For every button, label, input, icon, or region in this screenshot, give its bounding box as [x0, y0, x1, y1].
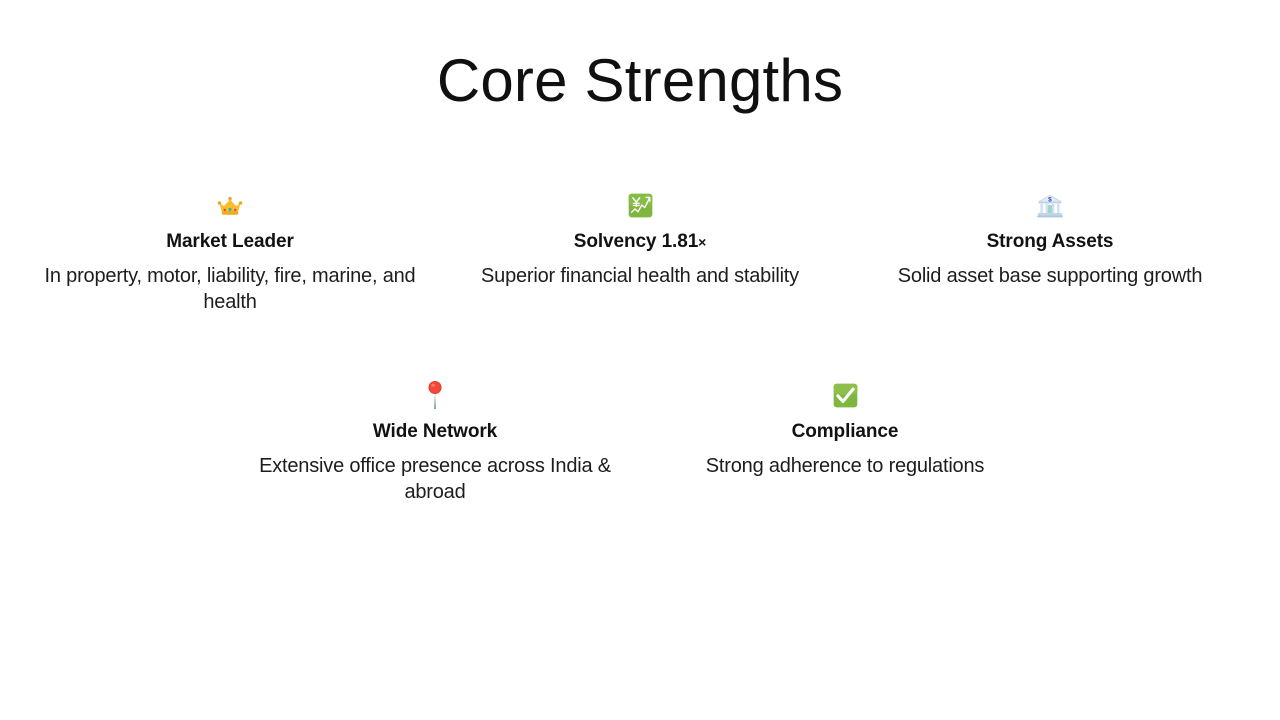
card-body: In property, motor, liability, fire, mar…	[43, 263, 417, 316]
strength-card-strong-assets[interactable]: $ Strong Assets Solid asset base support	[845, 182, 1255, 289]
bank-icon: $	[863, 182, 1237, 228]
strengths-row-1: Market Leader In property, motor, liabil…	[0, 182, 1280, 316]
page-title: Core Strengths	[0, 46, 1280, 115]
card-body: Solid asset base supporting growth	[863, 263, 1237, 290]
strength-card-compliance[interactable]: Compliance Strong adherence to regulatio…	[640, 372, 1050, 479]
crown-icon	[43, 182, 417, 228]
card-heading: Compliance	[658, 420, 1032, 445]
chart-increasing-with-yen-icon	[453, 182, 827, 228]
card-heading-text: Wide Network	[373, 421, 497, 442]
strength-card-wide-network[interactable]: Wide Network Extensive office presence a…	[230, 372, 640, 506]
strength-card-solvency[interactable]: Solvency 1.81× Superior financial health…	[435, 182, 845, 289]
card-heading-text: Market Leader	[166, 231, 294, 252]
card-heading-text: Solvency 1.81	[574, 231, 698, 252]
card-heading-suffix: ×	[698, 234, 706, 250]
card-heading: Strong Assets	[863, 230, 1237, 255]
card-heading-text: Compliance	[792, 421, 899, 442]
card-body: Superior financial health and stability	[453, 263, 827, 290]
round-pushpin-icon	[248, 372, 622, 418]
card-heading: Wide Network	[248, 420, 622, 445]
card-heading-text: Strong Assets	[987, 231, 1114, 252]
slide-root: Core Strengths	[0, 0, 1280, 720]
card-body: Strong adherence to regulations	[658, 453, 1032, 480]
card-heading: Solvency 1.81×	[453, 230, 827, 255]
strengths-grid: Market Leader In property, motor, liabil…	[0, 182, 1280, 506]
strengths-row-2: Wide Network Extensive office presence a…	[0, 372, 1280, 506]
strength-card-market-leader[interactable]: Market Leader In property, motor, liabil…	[25, 182, 435, 316]
check-mark-button-icon	[658, 372, 1032, 418]
card-heading: Market Leader	[43, 230, 417, 255]
card-body: Extensive office presence across India &…	[248, 453, 622, 506]
